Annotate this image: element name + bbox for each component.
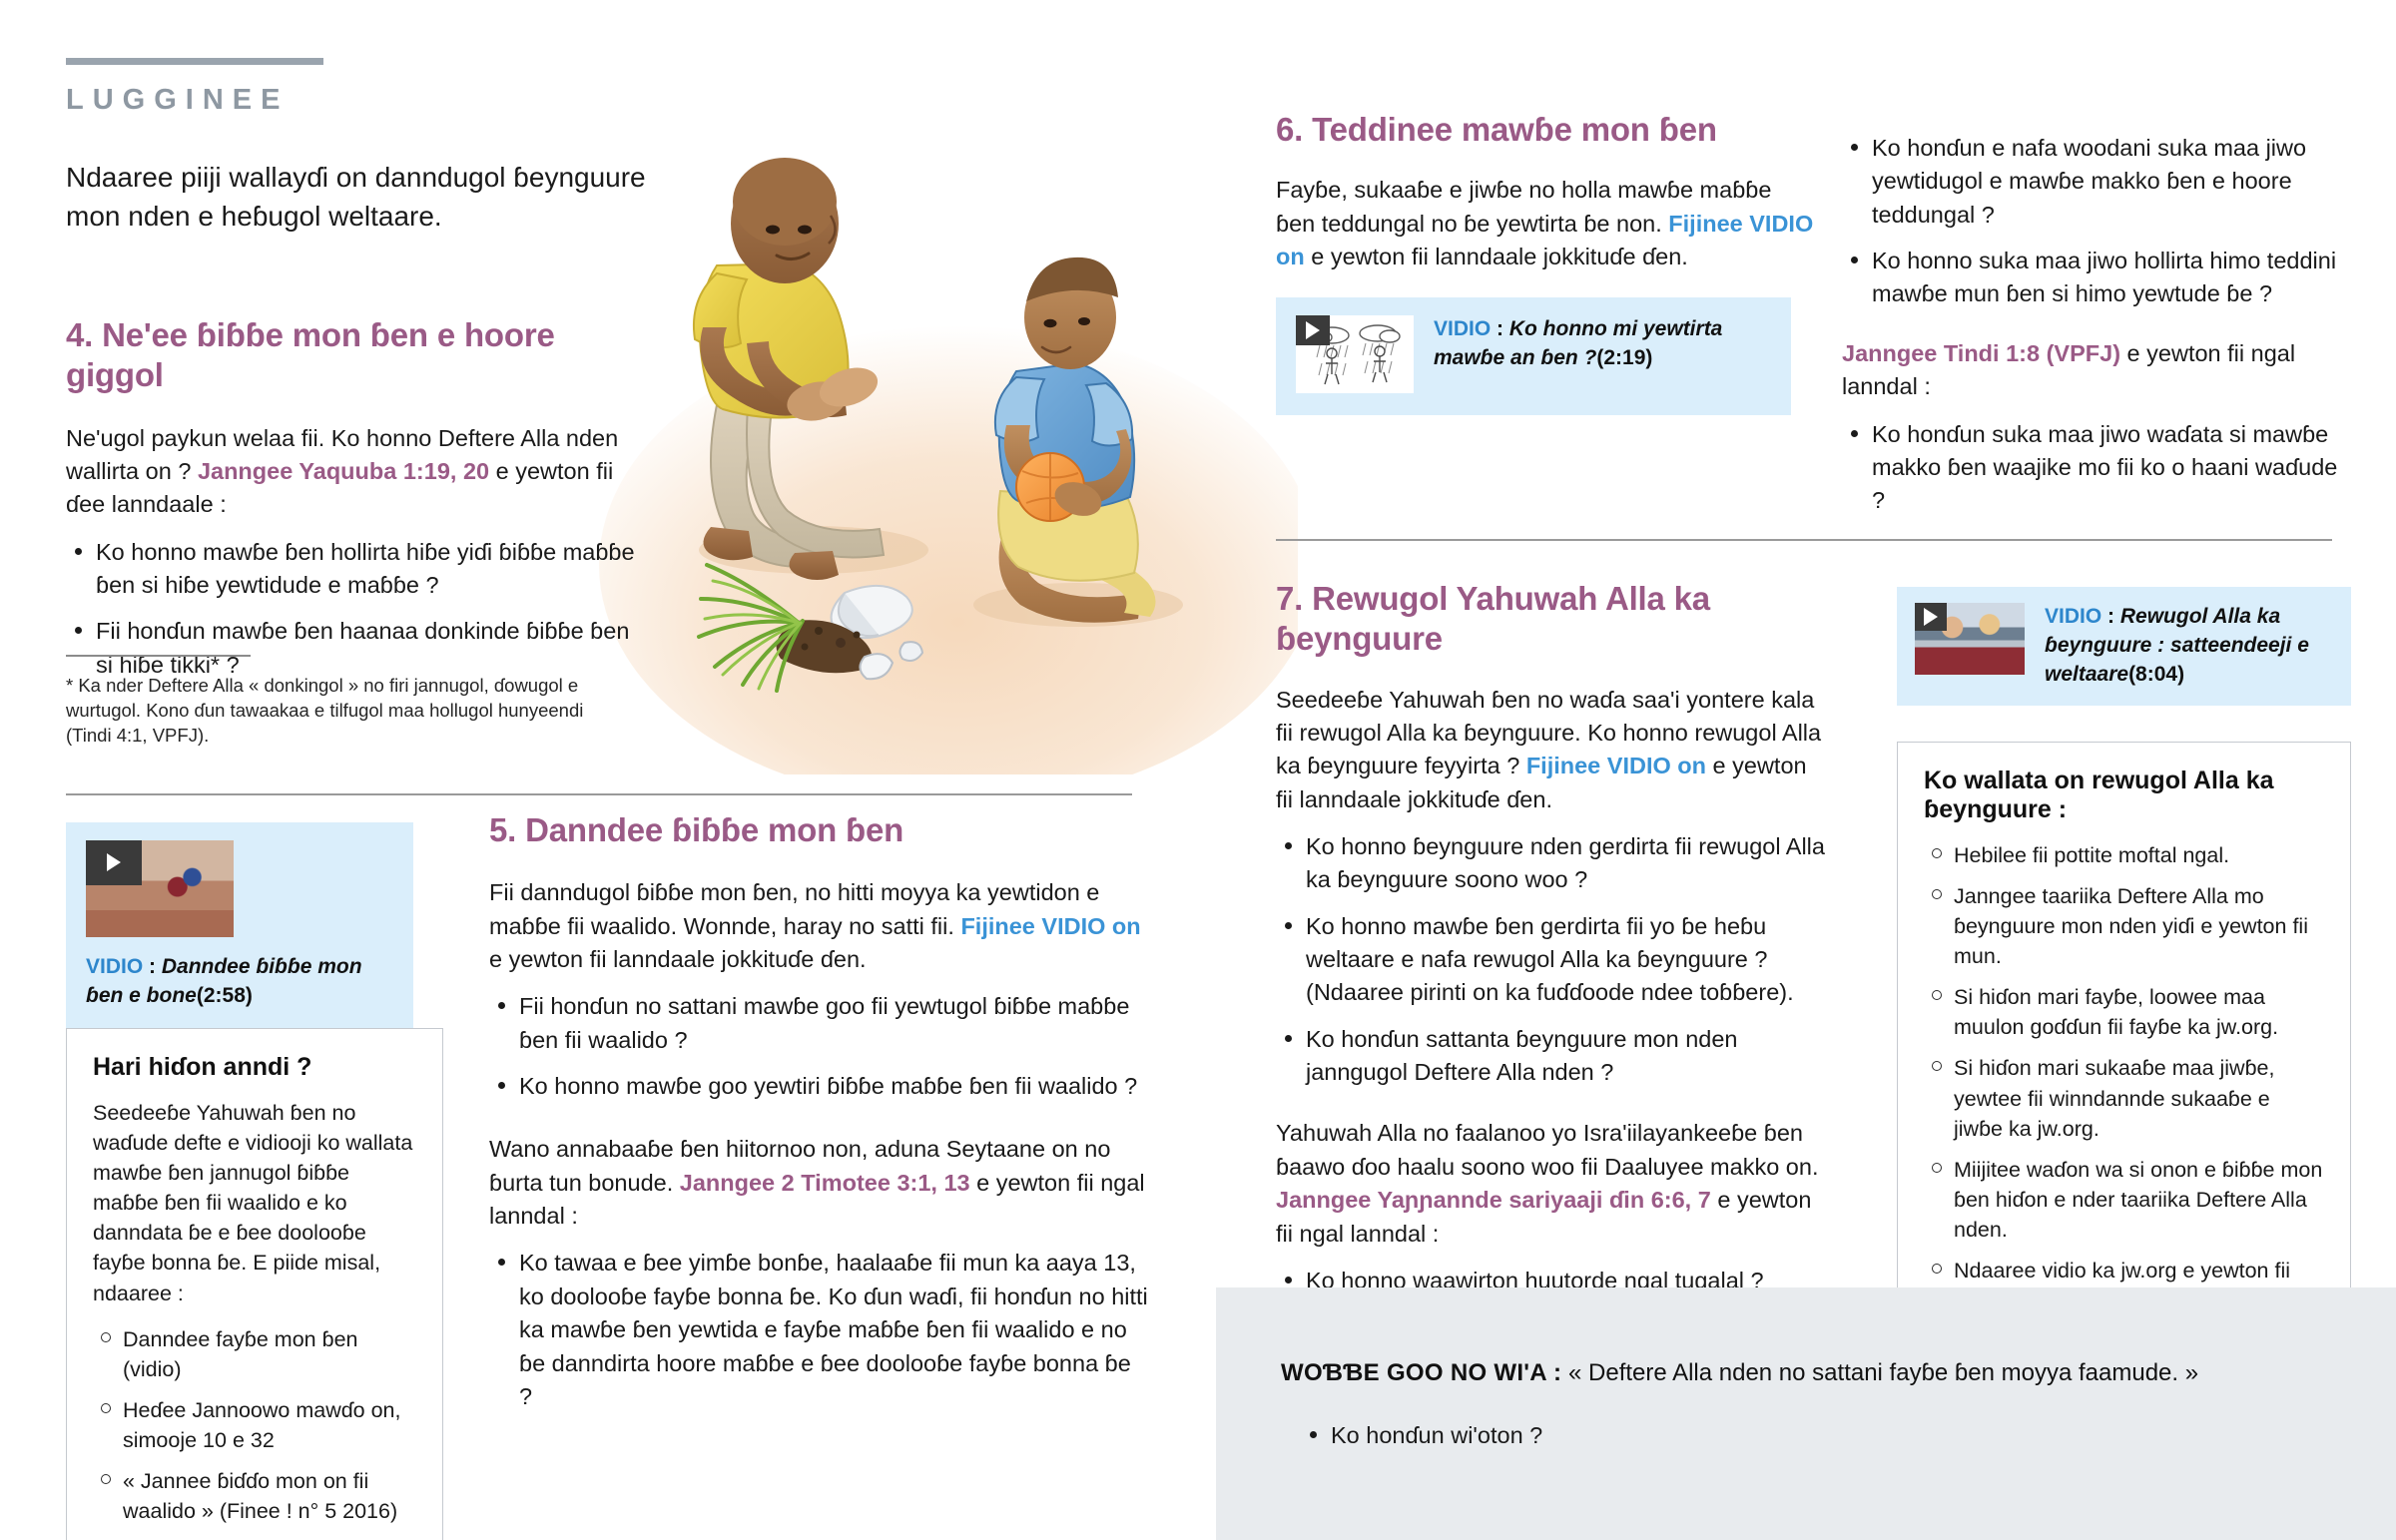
section-7-heading: 7. Rewugol Yahuwah Alla ka ɓeynguure: [1276, 579, 1830, 660]
footnote-text: * Ka nder Deftere Alla « donkingol » no …: [66, 673, 595, 748]
bottom-question-list: Ko honɗun wi'oton ?: [1301, 1419, 1542, 1465]
list-item: Danndee fayɓe mon ɓen (vidio): [93, 1324, 416, 1384]
list-item: Ko honɗun suka maa jiwo waɗata si mawɓe …: [1842, 418, 2341, 518]
section-6-question-list-2: Ko honɗun suka maa jiwo waɗata si mawɓe …: [1842, 418, 2341, 518]
list-item: Ko honno mawɓe ɓen gerdirta fii yo ɓe he…: [1276, 910, 1830, 1010]
horizontal-divider-right: [1276, 539, 2332, 541]
list-item: Ko honɗun wi'oton ?: [1301, 1419, 1542, 1452]
video-thumbnail-worship[interactable]: [1915, 603, 2025, 675]
section-4-heading: 4. Ne'ee ɓiɓɓe mon ɓen e hoore giggol: [66, 315, 635, 396]
section-6-questions: Ko honɗun e nafa woodani suka maa jiwo y…: [1842, 118, 2341, 531]
video-duration: (8:04): [2128, 663, 2184, 686]
horizontal-divider-left: [66, 793, 1132, 795]
masthead-rule: [66, 58, 323, 65]
video-caption-left: VIDIO : Danndee ɓiɓɓe mon ɓen e bone(2:5…: [86, 953, 393, 1011]
list-item: Ko honɗun sattanta ɓeynguure mon nden ja…: [1276, 1023, 1830, 1090]
section-7-paragraph-2: Yahuwah Alla no faalanoo yo Isra'iilayan…: [1276, 1117, 1830, 1250]
section-6-paragraph: Fayɓe, sukaaɓe e jiwɓe no holla mawɓe ma…: [1276, 174, 1815, 273]
video-box-section-7[interactable]: VIDIO : Rewugol Alla ka ɓeynguure : satt…: [1897, 587, 2351, 706]
fact-box-heading: Hari hiɗon anndi ?: [93, 1053, 416, 1082]
masthead-label: LUGGINEE: [66, 84, 323, 117]
section-6-scripture-ref[interactable]: Janngee Tindi 1:8 (VPFJ): [1842, 340, 2120, 366]
quote-label: WOƁƁE GOO NO WI'A :: [1281, 1359, 1561, 1386]
list-item: Janngee taariika Deftere Alla mo ɓeynguu…: [1924, 881, 2324, 971]
list-item: Fii honɗun no sattani mawɓe goo fii yewt…: [489, 990, 1148, 1057]
list-item: Ko tawaa e ɓee yimɓe bonɓe, haalaaɓe fii…: [489, 1247, 1148, 1413]
section-5-scripture-ref[interactable]: Janngee 2 Timotee 3:1, 13: [680, 1170, 970, 1196]
list-item: Ko honno mawɓe goo yewtiri ɓiɓɓe maɓɓe ɓ…: [489, 1070, 1148, 1103]
video-caption-section-6: VIDIO : Ko honno mi yewtirta mawɓe an ɓe…: [1434, 315, 1771, 373]
section-7-para2-pre: Yahuwah Alla no faalanoo yo Isra'iilayan…: [1276, 1120, 1818, 1179]
section-5-para-post: e yewton fii lanndaale jokkituɗe ɗen.: [489, 946, 867, 972]
fact-box-paragraph: Seedeeɓe Yahuwah ɓen no waɗude defte e v…: [93, 1098, 416, 1308]
list-item: Ko honno mawɓe ɓen hollirta hiɓe yiɗi ɓi…: [66, 536, 635, 603]
section-5-paragraph-2: Wano annabaaɓe ɓen hiitornoo non, aduna …: [489, 1133, 1148, 1233]
video-label: VIDIO: [2045, 605, 2101, 628]
section-7-sidebar: VIDIO : Rewugol Alla ka ɓeynguure : satt…: [1897, 587, 2351, 1353]
section-7-video-link[interactable]: Fijinee VIDIO on: [1526, 753, 1706, 778]
fact-box-list: Danndee fayɓe mon ɓen (vidio) Heɗee Jann…: [93, 1324, 416, 1527]
section-7: 7. Rewugol Yahuwah Alla ka ɓeynguure See…: [1276, 579, 1830, 1310]
list-item: Miijitee waɗon wa si onon e ɓiɓɓe mon ɓe…: [1924, 1155, 2324, 1245]
bottom-quote-band: WOƁƁE GOO NO WI'A : « Deftere Alla nden …: [1216, 1287, 2396, 1540]
list-item: Si hiɗon mari fayɓe, loowee maa muulon g…: [1924, 982, 2324, 1042]
footnote-rule: [66, 655, 251, 657]
section-7-paragraph: Seedeeɓe Yahuwah ɓen no waɗa saa'i yonte…: [1276, 684, 1830, 816]
list-item: Hebilee fii pottite moftal ngal.: [1924, 840, 2324, 870]
family-illustration: [599, 96, 1298, 774]
intro-paragraph: Ndaaree piiji wallayɗi on danndugol ɓeyn…: [66, 158, 685, 236]
fact-box-list: Hebilee fii pottite moftal ngal. Janngee…: [1924, 840, 2324, 1315]
list-item: Ko honno ɓeynguure nden gerdirta fii rew…: [1276, 830, 1830, 897]
section-5-question-list: Fii honɗun no sattani mawɓe goo fii yewt…: [489, 990, 1148, 1103]
video-label: VIDIO: [86, 955, 143, 978]
section-7-question-list: Ko honno ɓeynguure nden gerdirta fii rew…: [1276, 830, 1830, 1090]
section-6-question-list: Ko honɗun e nafa woodani suka maa jiwo y…: [1842, 132, 2341, 311]
play-icon[interactable]: [1915, 603, 1947, 631]
video-box-left[interactable]: VIDIO : Danndee ɓiɓɓe mon ɓen e bone(2:5…: [66, 822, 413, 1033]
quote-text: « Deftere Alla nden no sattani fayɓe ɓen…: [1568, 1359, 2198, 1386]
video-label: VIDIO: [1434, 317, 1491, 340]
section-5-heading: 5. Danndee ɓiɓɓe mon ɓen: [489, 810, 1148, 850]
fact-box-section-7: Ko wallata on rewugol Alla ka ɓeynguure …: [1897, 742, 2351, 1353]
quote-line: WOƁƁE GOO NO WI'A : « Deftere Alla nden …: [1281, 1359, 2198, 1387]
section-6-para-post: e yewton fii lanndaale jokkituɗe ɗen.: [1305, 244, 1688, 269]
section-7-scripture-ref[interactable]: Janngee Yaɲɲannde sariyaaji ɗin 6:6, 7: [1276, 1187, 1711, 1213]
play-icon[interactable]: [1296, 315, 1330, 345]
video-caption-section-7: VIDIO : Rewugol Alla ka ɓeynguure : satt…: [2045, 603, 2333, 690]
section-4-scripture-ref[interactable]: Janngee Yaquuba 1:19, 20: [198, 458, 489, 484]
list-item: Ko honɗun e nafa woodani suka maa jiwo y…: [1842, 132, 2341, 232]
play-icon[interactable]: [86, 840, 142, 885]
list-item: Heɗee Jannoowo mawɗo on, simooje 10 e 32: [93, 1395, 416, 1455]
fact-box-left: Hari hiɗon anndi ? Seedeeɓe Yahuwah ɓen …: [66, 1028, 443, 1540]
section-4-footnote-block: * Ka nder Deftere Alla « donkingol » no …: [66, 655, 595, 748]
section-5-question-list-2: Ko tawaa e ɓee yimɓe bonɓe, haalaaɓe fii…: [489, 1247, 1148, 1413]
video-duration: (2:19): [1596, 346, 1652, 369]
section-5: 5. Danndee ɓiɓɓe mon ɓen Fii danndugol ɓ…: [489, 810, 1148, 1426]
section-5-paragraph: Fii danndugol ɓiɓɓe mon ɓen, no hitti mo…: [489, 876, 1148, 976]
video-thumbnail-rain-scene[interactable]: [1296, 315, 1414, 393]
video-box-section-6[interactable]: VIDIO : Ko honno mi yewtirta mawɓe an ɓe…: [1276, 297, 1791, 415]
list-item: Ko honno suka maa jiwo hollirta himo ted…: [1842, 245, 2341, 311]
section-4-paragraph: Ne'ugol paykun welaa fii. Ko honno Defte…: [66, 422, 635, 522]
video-duration: (2:58): [197, 984, 253, 1007]
section-5-video-link[interactable]: Fijinee VIDIO on: [960, 913, 1140, 939]
list-item: Si hiɗon mari sukaaɓe maa jiwɓe, yewtee …: [1924, 1053, 2324, 1143]
masthead: LUGGINEE: [66, 58, 323, 117]
list-item: « Jannee ɓiɗɗo mon on fii waalido » (Fin…: [93, 1466, 416, 1526]
section-6: 6. Teddinee mawɓe mon ɓen Fayɓe, sukaaɓe…: [1276, 110, 1815, 415]
section-4: 4. Ne'ee ɓiɓɓe mon ɓen e hoore giggol Ne…: [66, 315, 635, 695]
fact-box-heading: Ko wallata on rewugol Alla ka ɓeynguure …: [1924, 767, 2324, 824]
section-6-paragraph-2: Janngee Tindi 1:8 (VPFJ) e yewton fii ng…: [1842, 337, 2341, 404]
document-page: LUGGINEE Ndaaree piiji wallayɗi on dannd…: [0, 0, 2396, 1540]
video-thumbnail-family-study[interactable]: [86, 840, 234, 937]
section-6-heading: 6. Teddinee mawɓe mon ɓen: [1276, 110, 1815, 150]
